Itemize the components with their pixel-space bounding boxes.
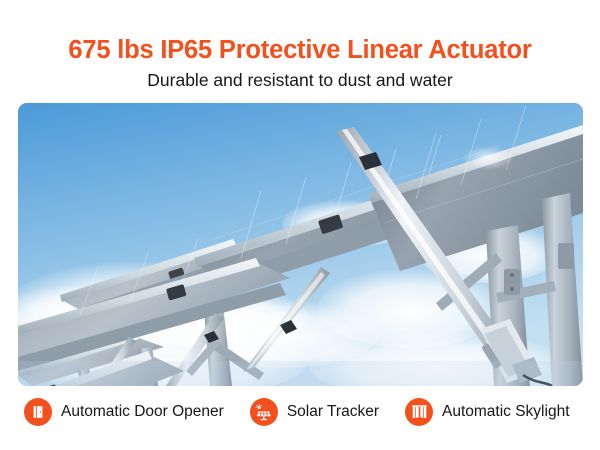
feature-item-automatic-skylight[interactable]: Automatic Skylight	[405, 398, 570, 426]
feature-item-solar-tracker[interactable]: Solar Tracker	[250, 398, 379, 426]
skylight-icon	[405, 398, 433, 426]
feature-item-automatic-door-opener[interactable]: Automatic Door Opener	[24, 398, 224, 426]
solar-tracker-illustration	[18, 103, 583, 386]
feature-label: Solar Tracker	[287, 404, 379, 420]
hero-image	[18, 103, 583, 386]
door-icon	[24, 398, 52, 426]
page-subtitle: Durable and resistant to dust and water	[0, 70, 600, 91]
feature-label: Automatic Skylight	[442, 404, 570, 420]
solar-panel-icon	[250, 398, 278, 426]
feature-list: Automatic Door Opener	[0, 398, 600, 426]
feature-label: Automatic Door Opener	[61, 404, 224, 420]
banner-header: 675 lbs IP65 Protective Linear Actuator …	[0, 0, 600, 91]
product-banner: 675 lbs IP65 Protective Linear Actuator …	[0, 0, 600, 450]
page-title: 675 lbs IP65 Protective Linear Actuator	[0, 36, 600, 64]
